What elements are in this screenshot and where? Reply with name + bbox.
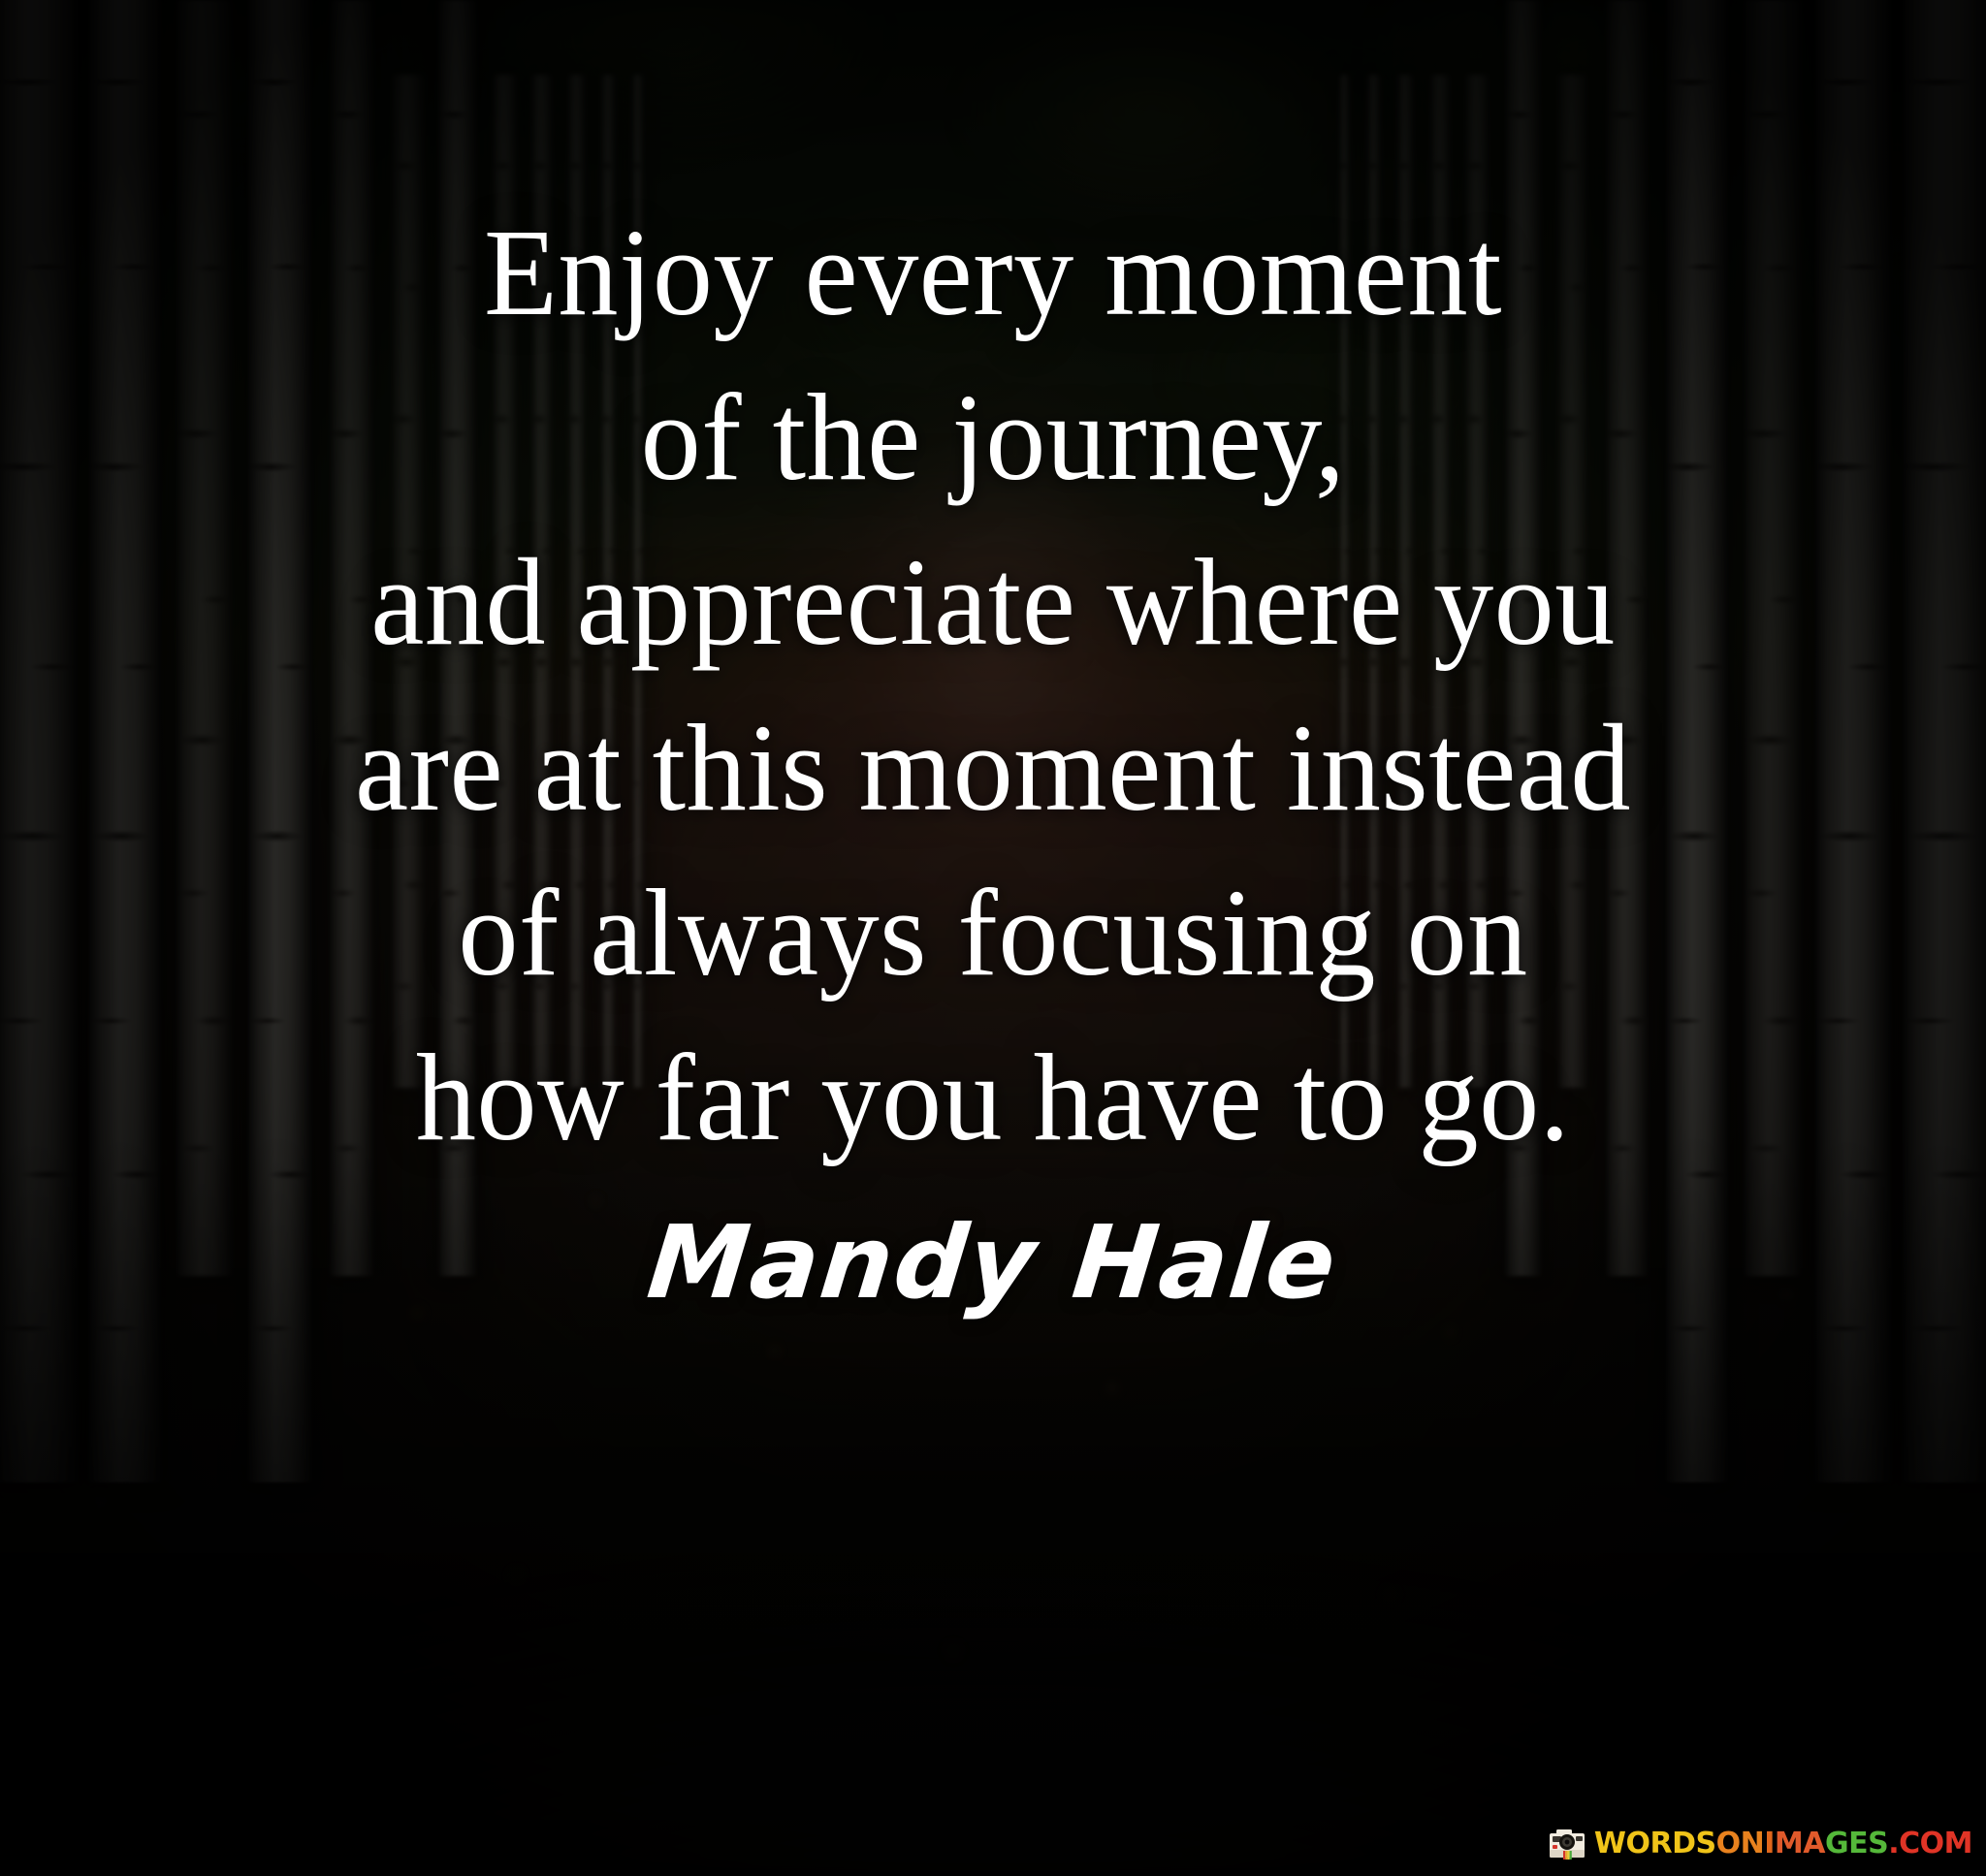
quote-line-2: of the journey, [30,355,1957,520]
poster-content: Enjoy every moment of the journey, and a… [0,0,1986,1876]
watermark-segment-4: MA [1775,1829,1825,1859]
quote-line-3: and appreciate where you [30,520,1957,684]
watermark-segment-1: WORDS [1594,1829,1716,1859]
watermark-segment-2: ON [1716,1829,1765,1859]
quote-line-5: of always focusing on [30,850,1957,1015]
watermark-segment-7: COM [1899,1829,1972,1859]
watermark[interactable]: WORDS ON I MA GES . COM [1548,1828,1972,1860]
watermark-segment-6: . [1888,1829,1899,1859]
watermark-segment-3: I [1764,1829,1775,1859]
author-attribution: Mandy Hale [643,1203,1343,1321]
watermark-text: WORDS ON I MA GES . COM [1594,1829,1972,1859]
watermark-segment-5: GES [1825,1829,1888,1859]
quote-poster: Enjoy every moment of the journey, and a… [0,0,1986,1876]
quote-line-4: are at this moment instead [30,685,1957,850]
polaroid-camera-icon [1548,1828,1586,1860]
quote-text: Enjoy every moment of the journey, and a… [30,190,1957,1180]
quote-line-1: Enjoy every moment [30,190,1957,355]
quote-line-6: how far you have to go. [30,1015,1957,1180]
